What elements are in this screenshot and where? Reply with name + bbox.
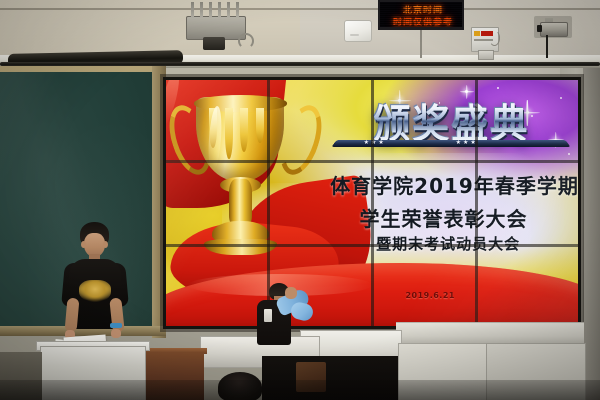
foreground-shadow	[0, 380, 600, 400]
assistant-hand	[285, 287, 297, 299]
wifi-access-point-icon	[344, 20, 372, 42]
panel-indicator-amber	[474, 31, 480, 36]
panel-sub-box	[478, 50, 494, 60]
jammer-power-box	[203, 37, 225, 50]
camera-cable	[546, 35, 548, 58]
security-camera-icon	[540, 22, 568, 37]
right-shelf	[396, 322, 584, 345]
assistant-near-screen	[255, 283, 313, 343]
wall-seam-top	[0, 8, 600, 10]
speaker-wristband	[110, 323, 122, 328]
classroom-scene: 北京时间 时间仅供参考	[0, 0, 600, 400]
panel-conduit	[489, 30, 500, 46]
led-video-wall[interactable]: 颁奖盛典 ★★★ ★★★ 体育学院2019年春季学期 学生荣誉表彰大会 暨期末考…	[163, 77, 581, 329]
assistant-forearm	[289, 301, 314, 323]
videowall-bezel-outer	[163, 77, 581, 329]
cable-hook-icon	[238, 33, 254, 49]
led-marquee-sign: 北京时间 时间仅供参考	[378, 0, 464, 30]
camera-lens-icon	[537, 25, 542, 32]
led-sign-mount	[420, 30, 422, 58]
speaker-shirt-graphic	[79, 280, 111, 302]
assistant-badge	[264, 309, 272, 322]
led-scanline-overlay	[380, 2, 464, 30]
